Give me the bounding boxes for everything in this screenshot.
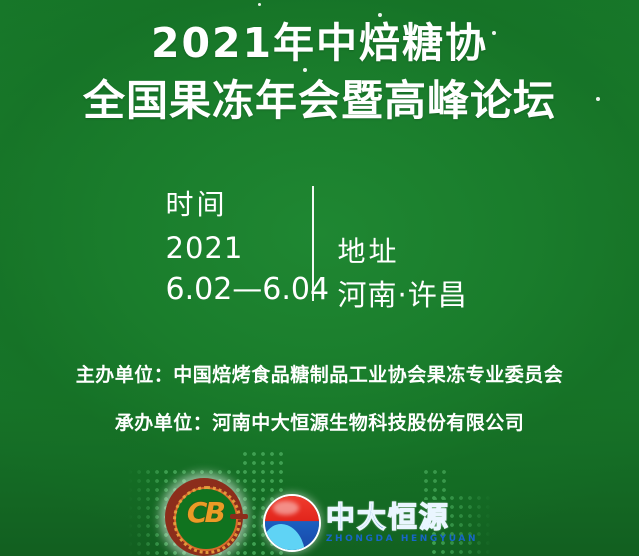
zhongda-chinese-name: 中大恒源 xyxy=(326,503,450,532)
logo-row: CB 中大恒源 ZHONGDA HENGYUAN xyxy=(0,460,639,556)
event-time-block: 时间 2021 6.02—6.04 xyxy=(126,183,312,311)
sun-over-waves-icon xyxy=(265,496,319,550)
address-label: 地址 xyxy=(338,230,514,274)
organizer-unit-line: 承办单位：河南中大恒源生物科技股份有限公司 xyxy=(0,406,639,440)
headline-line-1: 2021年中焙糖协 xyxy=(0,14,639,72)
host-unit-line: 主办单位：中国焙烤食品糖制品工业协会果冻专业委员会 xyxy=(0,358,639,392)
cbia-logo: CB xyxy=(161,476,249,556)
organizing-units: 主办单位：中国焙烤食品糖制品工业协会果冻专业委员会 承办单位：河南中大恒源生物科… xyxy=(0,358,639,440)
headline-line-2: 全国果冻年会暨高峰论坛 xyxy=(0,72,639,130)
address-value: 河南·许昌 xyxy=(338,274,514,316)
vertical-divider xyxy=(312,186,314,301)
time-label: 时间 xyxy=(166,183,312,227)
sparkle-dot xyxy=(258,3,261,6)
event-poster: 2021年中焙糖协 全国果冻年会暨高峰论坛 时间 2021 6.02—6.04 … xyxy=(0,0,639,556)
zhongda-hengyuan-logo: 中大恒源 ZHONGDA HENGYUAN xyxy=(265,496,478,550)
zhongda-wordmark: 中大恒源 ZHONGDA HENGYUAN xyxy=(326,503,478,544)
poster-headline: 2021年中焙糖协 全国果冻年会暨高峰论坛 xyxy=(0,14,639,130)
time-date-range: 6.02—6.04 xyxy=(166,269,312,311)
time-year: 2021 xyxy=(166,227,312,269)
zhongda-english-name: ZHONGDA HENGYUAN xyxy=(326,535,478,544)
event-address-block: 地址 河南·许昌 xyxy=(314,183,514,316)
event-info-band: 时间 2021 6.02—6.04 地址 河南·许昌 xyxy=(0,183,639,316)
cbia-monogram: CB xyxy=(161,498,249,528)
